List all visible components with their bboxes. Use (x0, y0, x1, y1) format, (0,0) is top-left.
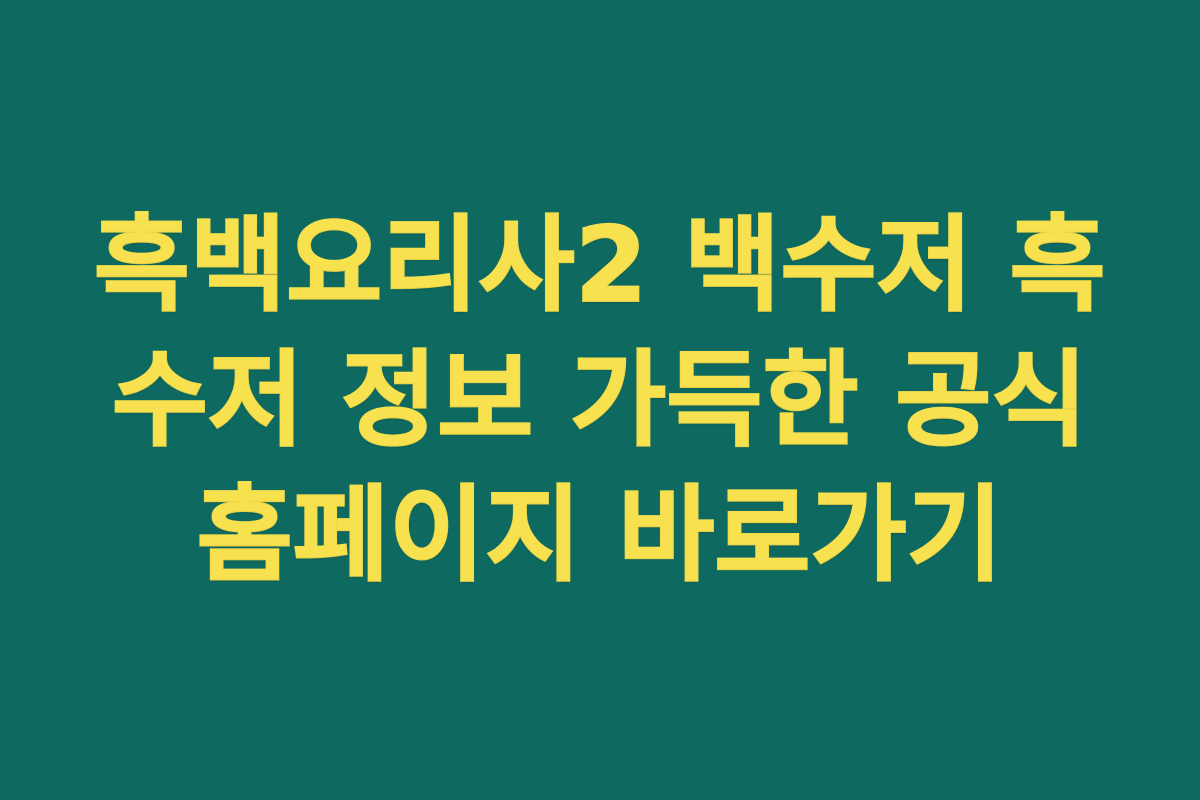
headline-line-1: 흑백요리사2 백수저 흑 (40, 198, 1160, 333)
headline-line-2: 수저 정보 가득한 공식 (40, 333, 1160, 468)
page-title: 흑백요리사2 백수저 흑 수저 정보 가득한 공식 홈페이지 바로가기 (0, 198, 1200, 603)
promo-banner: 흑백요리사2 백수저 흑 수저 정보 가득한 공식 홈페이지 바로가기 (0, 0, 1200, 800)
headline-line-3: 홈페이지 바로가기 (40, 468, 1160, 603)
